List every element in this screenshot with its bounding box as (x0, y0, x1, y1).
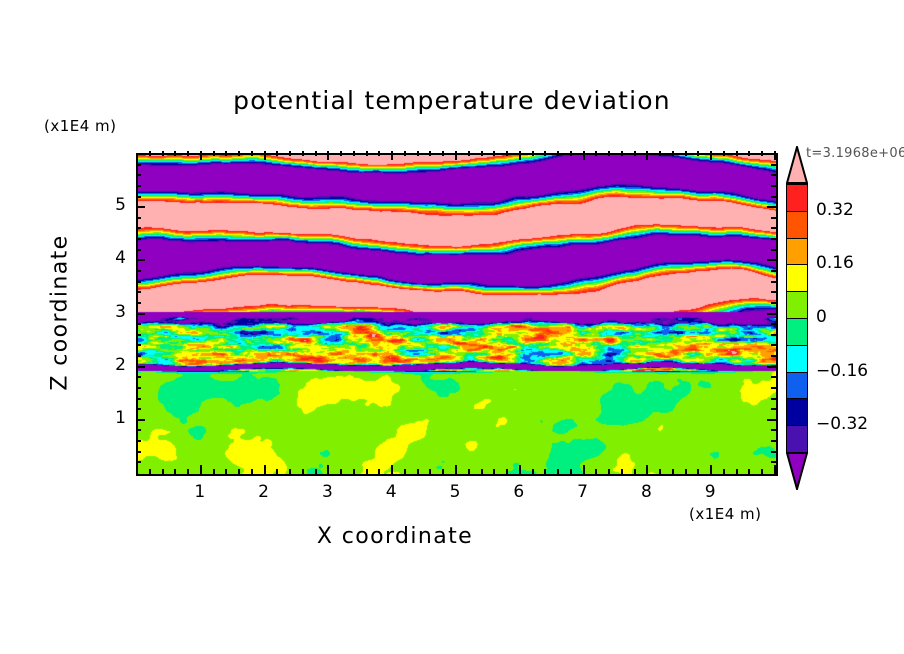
y-minor-tick-right (771, 281, 776, 283)
x-minor-tick-top (149, 151, 151, 156)
x-minor-tick (748, 469, 750, 474)
y-minor-tick (136, 440, 141, 442)
x-minor-tick-top (481, 151, 483, 156)
y-major-tick (136, 206, 145, 208)
y-minor-tick-right (771, 196, 776, 198)
x-minor-tick (404, 469, 406, 474)
x-major-tick (391, 465, 393, 474)
y-minor-tick-right (771, 174, 776, 176)
x-minor-tick (162, 469, 164, 474)
x-minor-tick-top (544, 151, 546, 156)
x-minor-tick (557, 469, 559, 474)
x-minor-tick-top (213, 151, 215, 156)
x-tick-label: 2 (244, 482, 284, 502)
x-minor-tick-top (417, 151, 419, 156)
page-title: potential temperature deviation (0, 86, 904, 115)
x-minor-tick-top (225, 151, 227, 156)
x-minor-tick-top (302, 151, 304, 156)
y-minor-tick-right (771, 355, 776, 357)
x-minor-tick (238, 469, 240, 474)
y-tick-label: 3 (86, 302, 126, 322)
y-tick-label: 2 (86, 355, 126, 375)
colorbar-band (786, 264, 808, 292)
x-minor-tick-top (162, 151, 164, 156)
x-minor-tick-top (506, 151, 508, 156)
y-minor-tick (136, 217, 141, 219)
x-minor-tick (532, 469, 534, 474)
colorbar-tick-label: −0.32 (816, 414, 868, 434)
y-tick-label: 5 (86, 195, 126, 215)
colorbar-band (786, 318, 808, 346)
y-minor-tick-right (771, 451, 776, 453)
colorbar-band (786, 211, 808, 239)
y-major-tick-right (767, 419, 776, 421)
x-minor-tick-top (340, 151, 342, 156)
y-minor-tick (136, 355, 141, 357)
x-minor-tick (187, 469, 189, 474)
x-major-tick (646, 465, 648, 474)
x-minor-tick-top (659, 151, 661, 156)
x-minor-tick (442, 469, 444, 474)
colorbar-under-arrow (786, 452, 808, 490)
y-minor-tick-right (771, 291, 776, 293)
y-minor-tick-right (771, 238, 776, 240)
x-minor-tick-top (748, 151, 750, 156)
y-minor-tick-right (771, 249, 776, 251)
x-minor-tick (685, 469, 687, 474)
y-major-tick (136, 419, 145, 421)
x-minor-tick (608, 469, 610, 474)
y-minor-tick (136, 291, 141, 293)
heatmap-canvas (138, 155, 776, 474)
x-minor-tick (761, 469, 763, 474)
colorbar-band (786, 425, 808, 453)
x-tick-label: 8 (626, 482, 666, 502)
x-minor-tick (544, 469, 546, 474)
x-major-tick-top (264, 151, 266, 160)
y-minor-tick-right (771, 387, 776, 389)
x-minor-tick (634, 469, 636, 474)
y-minor-tick (136, 408, 141, 410)
x-minor-tick-top (608, 151, 610, 156)
y-minor-tick (136, 429, 141, 431)
x-major-tick-top (583, 151, 585, 160)
x-major-tick (774, 465, 776, 474)
x-tick-label: 4 (371, 482, 411, 502)
x-minor-tick (493, 469, 495, 474)
colorbar-band (786, 398, 808, 426)
x-minor-tick-top (289, 151, 291, 156)
x-minor-tick (659, 469, 661, 474)
colorbar-band (786, 291, 808, 319)
x-axis-title: X coordinate (0, 524, 790, 549)
x-minor-tick (697, 469, 699, 474)
x-minor-tick (672, 469, 674, 474)
x-minor-tick-top (736, 151, 738, 156)
y-major-tick (136, 366, 145, 368)
x-major-tick (710, 465, 712, 474)
x-minor-tick (417, 469, 419, 474)
y-major-tick (136, 313, 145, 315)
x-minor-tick (149, 469, 151, 474)
y-minor-tick (136, 461, 141, 463)
x-major-tick-top (710, 151, 712, 160)
y-major-tick-right (767, 313, 776, 315)
y-minor-tick-right (771, 398, 776, 400)
y-minor-tick (136, 281, 141, 283)
y-axis-title: Z coordinate (48, 203, 73, 423)
x-minor-tick (289, 469, 291, 474)
y-minor-tick (136, 185, 141, 187)
timestamp-label: t=3.1968e+06 (806, 146, 904, 161)
x-minor-tick (174, 469, 176, 474)
y-axis-unit-label: (x1E4 m) (44, 117, 117, 135)
x-axis-unit-label: (x1E4 m) (689, 505, 762, 523)
colorbar-band (786, 345, 808, 373)
y-minor-tick-right (771, 408, 776, 410)
x-minor-tick (353, 469, 355, 474)
colorbar-tick-label: 0.16 (816, 253, 854, 273)
x-minor-tick-top (366, 151, 368, 156)
x-minor-tick-top (557, 151, 559, 156)
y-minor-tick (136, 323, 141, 325)
heatmap-plot-area (136, 153, 778, 476)
x-minor-tick-top (761, 151, 763, 156)
x-minor-tick-top (378, 151, 380, 156)
x-minor-tick (595, 469, 597, 474)
x-minor-tick-top (595, 151, 597, 156)
y-minor-tick (136, 398, 141, 400)
x-minor-tick-top (634, 151, 636, 156)
x-minor-tick-top (723, 151, 725, 156)
x-minor-tick-top (251, 151, 253, 156)
x-minor-tick-top (697, 151, 699, 156)
y-minor-tick (136, 164, 141, 166)
y-minor-tick (136, 196, 141, 198)
y-minor-tick (136, 451, 141, 453)
x-major-tick-top (391, 151, 393, 160)
x-major-tick (327, 465, 329, 474)
x-major-tick (200, 465, 202, 474)
x-minor-tick-top (685, 151, 687, 156)
y-minor-tick (136, 387, 141, 389)
x-minor-tick (213, 469, 215, 474)
x-major-tick (519, 465, 521, 474)
colorbar-tick-label: 0 (816, 307, 827, 327)
x-tick-label: 3 (307, 482, 347, 502)
x-minor-tick (276, 469, 278, 474)
x-minor-tick-top (532, 151, 534, 156)
colorbar-over-arrow (786, 146, 808, 184)
y-minor-tick (136, 270, 141, 272)
colorbar-band (786, 372, 808, 400)
x-minor-tick-top (353, 151, 355, 156)
x-minor-tick (570, 469, 572, 474)
x-minor-tick (225, 469, 227, 474)
x-tick-label: 5 (435, 482, 475, 502)
x-minor-tick (506, 469, 508, 474)
y-minor-tick-right (771, 164, 776, 166)
x-minor-tick (378, 469, 380, 474)
x-major-tick (583, 465, 585, 474)
x-minor-tick-top (238, 151, 240, 156)
x-minor-tick-top (276, 151, 278, 156)
y-minor-tick-right (771, 227, 776, 229)
x-major-tick (264, 465, 266, 474)
y-tick-label: 1 (86, 408, 126, 428)
x-tick-label: 6 (499, 482, 539, 502)
y-minor-tick (136, 174, 141, 176)
x-minor-tick (621, 469, 623, 474)
y-major-tick-right (767, 366, 776, 368)
x-major-tick-top (646, 151, 648, 160)
x-minor-tick (340, 469, 342, 474)
x-minor-tick-top (672, 151, 674, 156)
x-minor-tick-top (404, 151, 406, 156)
x-minor-tick-top (429, 151, 431, 156)
x-minor-tick-top (187, 151, 189, 156)
x-major-tick (455, 465, 457, 474)
y-minor-tick-right (771, 217, 776, 219)
x-minor-tick-top (621, 151, 623, 156)
x-minor-tick-top (570, 151, 572, 156)
y-tick-label: 4 (86, 248, 126, 268)
x-minor-tick (736, 469, 738, 474)
x-tick-label: 1 (180, 482, 220, 502)
y-major-tick-right (767, 206, 776, 208)
y-minor-tick-right (771, 429, 776, 431)
y-minor-tick-right (771, 323, 776, 325)
y-minor-tick-right (771, 302, 776, 304)
y-minor-tick-right (771, 334, 776, 336)
y-minor-tick (136, 376, 141, 378)
figure: potential temperature deviation t=3.1968… (0, 0, 904, 654)
colorbar-band (786, 238, 808, 266)
colorbar-tick-label: 0.32 (816, 200, 854, 220)
y-minor-tick (136, 238, 141, 240)
y-minor-tick (136, 334, 141, 336)
colorbar-band (786, 184, 808, 212)
colorbar (786, 184, 808, 452)
y-minor-tick-right (771, 376, 776, 378)
y-minor-tick-right (771, 185, 776, 187)
x-minor-tick (366, 469, 368, 474)
colorbar-tick-label: −0.16 (816, 361, 868, 381)
x-minor-tick (481, 469, 483, 474)
x-minor-tick-top (442, 151, 444, 156)
x-tick-label: 9 (690, 482, 730, 502)
x-minor-tick-top (493, 151, 495, 156)
x-minor-tick-top (174, 151, 176, 156)
x-minor-tick (251, 469, 253, 474)
x-major-tick-top (455, 151, 457, 160)
x-minor-tick-top (315, 151, 317, 156)
x-minor-tick (315, 469, 317, 474)
y-minor-tick-right (771, 461, 776, 463)
x-minor-tick-top (468, 151, 470, 156)
y-major-tick-right (767, 259, 776, 261)
x-minor-tick (302, 469, 304, 474)
y-minor-tick (136, 344, 141, 346)
y-minor-tick-right (771, 344, 776, 346)
x-major-tick-top (327, 151, 329, 160)
y-minor-tick-right (771, 270, 776, 272)
x-major-tick-top (774, 151, 776, 160)
x-major-tick-top (200, 151, 202, 160)
x-tick-label: 7 (563, 482, 603, 502)
y-minor-tick (136, 227, 141, 229)
x-minor-tick (468, 469, 470, 474)
x-minor-tick (429, 469, 431, 474)
y-minor-tick-right (771, 440, 776, 442)
y-minor-tick (136, 302, 141, 304)
y-minor-tick (136, 249, 141, 251)
y-major-tick (136, 259, 145, 261)
x-minor-tick (723, 469, 725, 474)
x-major-tick-top (519, 151, 521, 160)
